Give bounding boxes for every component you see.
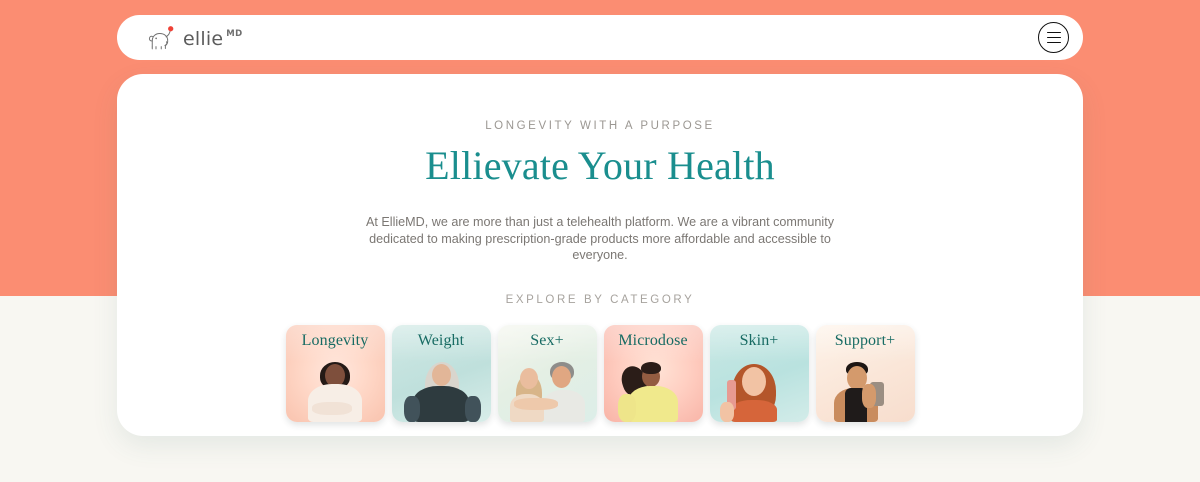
hero-description: At EllieMD, we are more than just a tele… (340, 214, 860, 264)
category-card-label: Support+ (816, 325, 915, 350)
category-card-label: Longevity (286, 325, 385, 350)
menu-line (1047, 42, 1061, 44)
brand-name: ellie (183, 30, 223, 49)
menu-line (1047, 32, 1061, 34)
category-card-sex-plus[interactable]: Sex+ (498, 325, 597, 422)
category-card-support-plus[interactable]: Support+ (816, 325, 915, 422)
menu-line (1047, 37, 1061, 39)
elephant-balloon-logo-icon (147, 25, 177, 51)
hero-eyebrow: LONGEVITY WITH A PURPOSE (117, 120, 1083, 132)
category-card-skin-plus[interactable]: Skin+ (710, 325, 809, 422)
hamburger-menu-icon[interactable] (1038, 22, 1069, 53)
category-card-weight[interactable]: Weight (392, 325, 491, 422)
category-card-label: Weight (392, 325, 491, 350)
explore-by-category-label: EXPLORE BY CATEGORY (117, 294, 1083, 306)
category-card-microdose[interactable]: Microdose (604, 325, 703, 422)
category-card-label: Skin+ (710, 325, 809, 350)
site-header: ellie MD (117, 15, 1083, 60)
category-card-label: Microdose (604, 325, 703, 350)
brand-superscript: MD (226, 29, 242, 39)
page-title: Ellievate Your Health (117, 144, 1083, 188)
category-card-label: Sex+ (498, 325, 597, 350)
brand-logo[interactable]: ellie MD (147, 25, 246, 51)
hero-panel: LONGEVITY WITH A PURPOSE Ellievate Your … (117, 74, 1083, 436)
category-card-row: Longevity Weight (117, 325, 1083, 422)
category-card-longevity[interactable]: Longevity (286, 325, 385, 422)
